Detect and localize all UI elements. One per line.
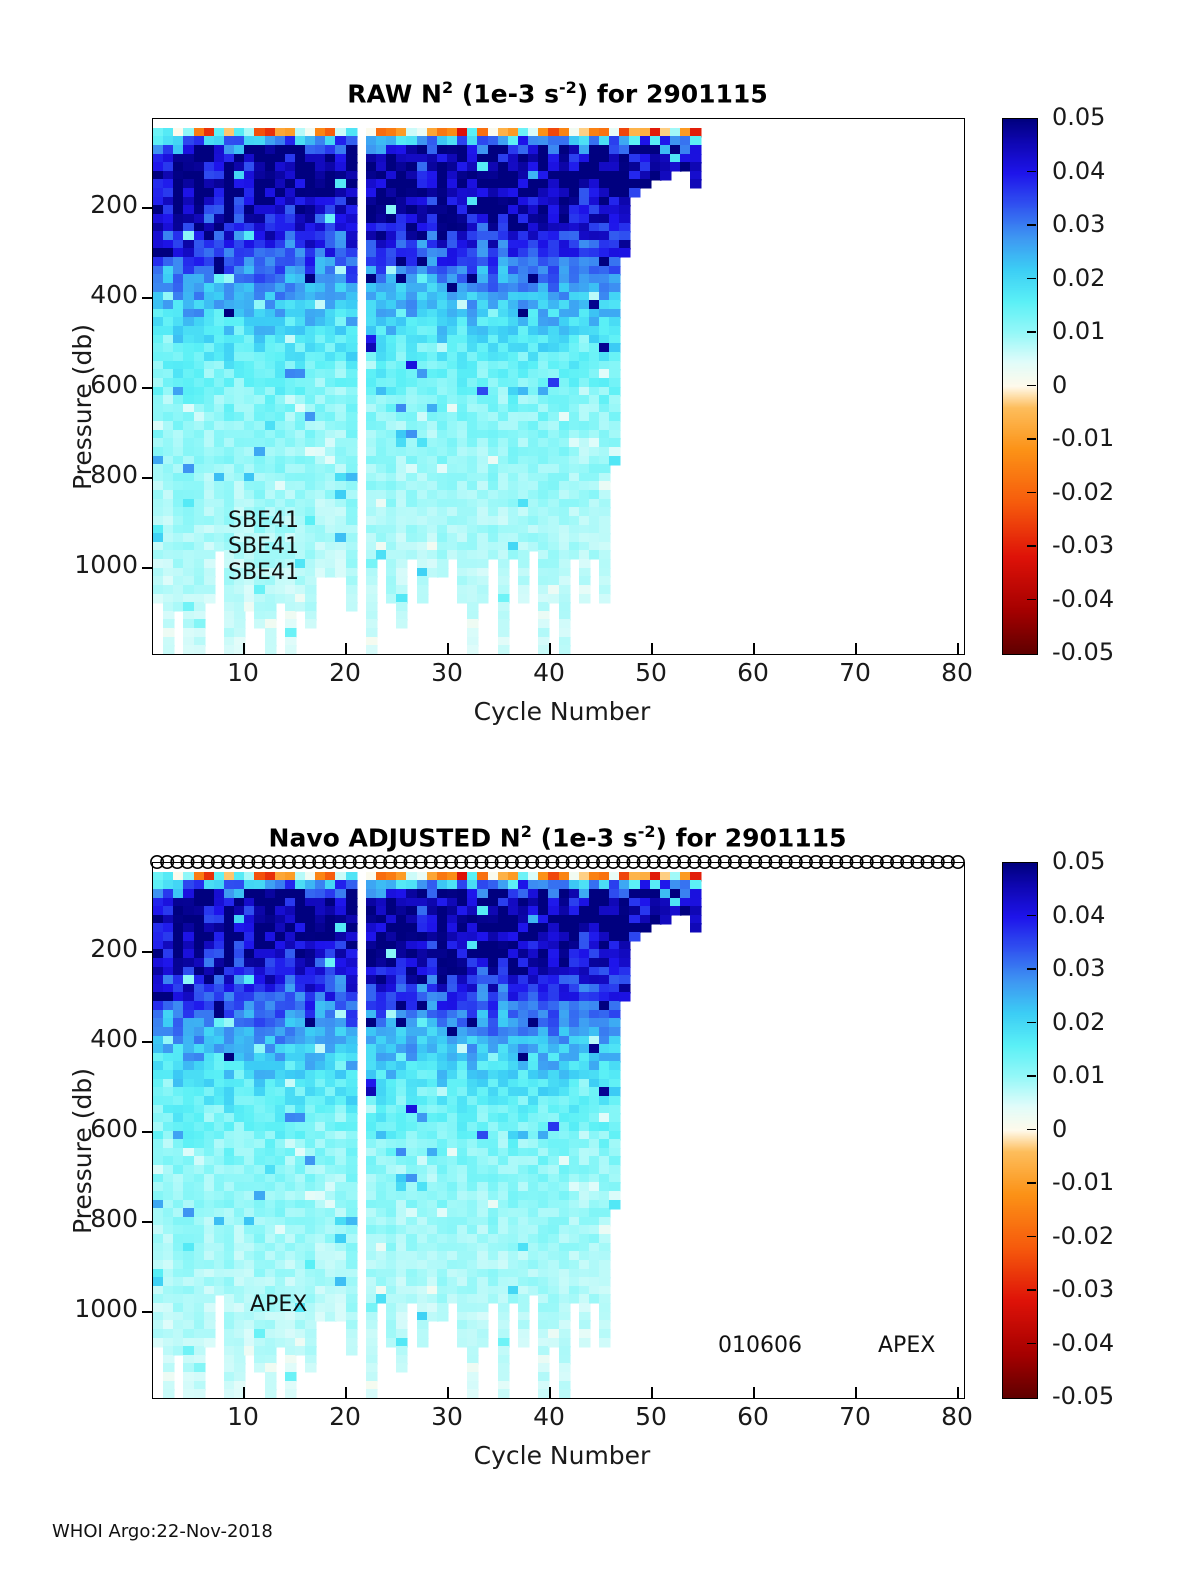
adjusted-annotation-platform-type: APEX <box>878 1333 935 1358</box>
raw-xtick-40: 40 <box>509 658 589 687</box>
title-text-mid: (1e-3 s <box>532 823 638 852</box>
colorbar-tick-mark <box>1027 915 1036 917</box>
adjusted-ytickmark-800 <box>142 1221 152 1223</box>
raw-annotation-sensor-1: SBE41 <box>228 508 299 533</box>
title-text-mid: (1e-3 s <box>453 79 559 108</box>
adjusted-xtickmark-60 <box>753 1387 755 1398</box>
colorbar-tick-label: 0.04 <box>1052 901 1105 929</box>
colorbar-tick-label: -0.05 <box>1052 1382 1114 1410</box>
colorbar-tick-label: 0.03 <box>1052 954 1105 982</box>
colorbar-tick-label: -0.03 <box>1052 531 1114 559</box>
colorbar-tick-label: 0.02 <box>1052 1008 1105 1036</box>
colorbar-tick-mark <box>1027 1236 1036 1238</box>
raw-ytickmark-800 <box>142 477 152 479</box>
title-sup-n2: 2 <box>521 822 532 841</box>
title-sup-n2: 2 <box>442 78 453 97</box>
title-text-post: ) for 2901115 <box>577 79 768 108</box>
title-text-pre: Navo ADJUSTED N <box>269 823 521 852</box>
adjusted-ytickmark-400 <box>142 1041 152 1043</box>
adjusted-xtickmark-50 <box>651 1387 653 1398</box>
colorbar-tick-mark <box>1027 171 1036 173</box>
raw-annotation-sensor-3: SBE41 <box>228 560 299 585</box>
raw-xtickmark-70 <box>855 643 857 654</box>
adjusted-heatmap <box>153 863 964 1398</box>
colorbar-tick-mark <box>1027 224 1036 226</box>
adjusted-xtickmark-10 <box>243 1387 245 1398</box>
colorbar-tick-label: 0.03 <box>1052 210 1105 238</box>
raw-ytick-400: 400 <box>60 280 138 309</box>
raw-colorbar[interactable] <box>1002 118 1038 655</box>
raw-xtick-70: 70 <box>815 658 895 687</box>
raw-ytickmark-200 <box>142 207 152 209</box>
colorbar-tick-mark <box>1027 385 1036 387</box>
colorbar-tick-mark <box>1027 1075 1036 1077</box>
raw-ytickmark-400 <box>142 297 152 299</box>
adjusted-ytickmark-200 <box>142 951 152 953</box>
colorbar-tick-mark <box>1027 1022 1036 1024</box>
adjusted-ytickmark-1000 <box>142 1311 152 1313</box>
colorbar-tick-mark <box>1027 438 1036 440</box>
colorbar-tick-label: 0.05 <box>1052 103 1105 131</box>
raw-xtick-10: 10 <box>203 658 283 687</box>
raw-ytick-1000: 1000 <box>40 550 138 579</box>
raw-xtickmark-20 <box>345 643 347 654</box>
colorbar-tick-mark <box>1027 278 1036 280</box>
adjusted-ytick-200: 200 <box>60 934 138 963</box>
raw-xtickmark-40 <box>549 643 551 654</box>
adjusted-xtick-50: 50 <box>611 1402 691 1431</box>
adjusted-annotation-wmo-date: 010606 <box>718 1333 802 1358</box>
adjusted-xtick-30: 30 <box>407 1402 487 1431</box>
colorbar-tick-label: 0 <box>1052 371 1067 399</box>
raw-xtickmark-30 <box>447 643 449 654</box>
title-sup-s2: -2 <box>559 78 577 97</box>
adjusted-ytick-400: 400 <box>60 1024 138 1053</box>
raw-ytick-200: 200 <box>60 190 138 219</box>
adjusted-colorbar[interactable] <box>1002 862 1038 1399</box>
adjusted-xtick-40: 40 <box>509 1402 589 1431</box>
colorbar-tick-label: -0.01 <box>1052 424 1114 452</box>
page-footer: WHOI Argo:22-Nov-2018 <box>52 1521 273 1542</box>
colorbar-tick-mark <box>1027 968 1036 970</box>
colorbar-tick-mark <box>1027 331 1036 333</box>
title-text-pre: RAW N <box>347 79 442 108</box>
adjusted-xtickmark-70 <box>855 1387 857 1398</box>
raw-xtick-20: 20 <box>305 658 385 687</box>
panel-adjusted-title: Navo ADJUSTED N2 (1e-3 s-2) for 2901115 <box>152 822 963 852</box>
colorbar-tick-label: 0.04 <box>1052 157 1105 185</box>
raw-xtick-50: 50 <box>611 658 691 687</box>
raw-annotation-sensor-2: SBE41 <box>228 534 299 559</box>
raw-ytick-800: 800 <box>60 460 138 489</box>
adjusted-annotation-platform: APEX <box>250 1292 307 1317</box>
adjusted-ytick-600: 600 <box>60 1114 138 1143</box>
adjusted-ytick-1000: 1000 <box>40 1294 138 1323</box>
colorbar-tick-label: 0 <box>1052 1115 1067 1143</box>
adjusted-xtick-20: 20 <box>305 1402 385 1431</box>
raw-xtickmark-50 <box>651 643 653 654</box>
colorbar-tick-label: 0.02 <box>1052 264 1105 292</box>
raw-ytick-600: 600 <box>60 370 138 399</box>
colorbar-tick-mark <box>1027 1182 1036 1184</box>
raw-xtickmark-60 <box>753 643 755 654</box>
raw-ytickmark-1000 <box>142 567 152 569</box>
colorbar-tick-mark <box>1027 492 1036 494</box>
colorbar-tick-label: 0.05 <box>1052 847 1105 875</box>
adjusted-xtickmark-20 <box>345 1387 347 1398</box>
adjusted-xtick-70: 70 <box>815 1402 895 1431</box>
colorbar-tick-label: -0.03 <box>1052 1275 1114 1303</box>
raw-xtickmark-10 <box>243 643 245 654</box>
colorbar-tick-label: 0.01 <box>1052 1061 1105 1089</box>
colorbar-tick-label: -0.02 <box>1052 478 1114 506</box>
colorbar-tick-mark <box>1027 1129 1036 1131</box>
colorbar-tick-mark <box>1027 1343 1036 1345</box>
colorbar-tick-mark <box>1027 1289 1036 1291</box>
raw-xtick-60: 60 <box>713 658 793 687</box>
adjusted-ytick-800: 800 <box>60 1204 138 1233</box>
colorbar-tick-mark <box>1027 545 1036 547</box>
adjusted-xtick-10: 10 <box>203 1402 283 1431</box>
adjusted-x-axis-label: Cycle Number <box>452 1441 672 1470</box>
colorbar-tick-label: -0.04 <box>1052 1329 1114 1357</box>
colorbar-tick-mark <box>1027 599 1036 601</box>
panel-raw-title: RAW N2 (1e-3 s-2) for 2901115 <box>152 78 963 108</box>
colorbar-tick-label: -0.01 <box>1052 1168 1114 1196</box>
adjusted-plot-area[interactable] <box>152 862 965 1399</box>
adjusted-xtickmark-80 <box>957 1387 959 1398</box>
raw-ytickmark-600 <box>142 387 152 389</box>
raw-x-axis-label: Cycle Number <box>452 697 672 726</box>
adjusted-xtickmark-40 <box>549 1387 551 1398</box>
colorbar-tick-label: -0.02 <box>1052 1222 1114 1250</box>
raw-xtickmark-80 <box>957 643 959 654</box>
raw-xtick-80: 80 <box>917 658 997 687</box>
raw-xtick-30: 30 <box>407 658 487 687</box>
adjusted-xtick-60: 60 <box>713 1402 793 1431</box>
colorbar-tick-label: -0.05 <box>1052 638 1114 666</box>
adjusted-xtickmark-30 <box>447 1387 449 1398</box>
adjusted-ytickmark-600 <box>142 1131 152 1133</box>
adjusted-xtick-80: 80 <box>917 1402 997 1431</box>
title-sup-s2: -2 <box>638 822 656 841</box>
title-text-post: ) for 2901115 <box>655 823 846 852</box>
colorbar-tick-label: 0.01 <box>1052 317 1105 345</box>
colorbar-tick-label: -0.04 <box>1052 585 1114 613</box>
